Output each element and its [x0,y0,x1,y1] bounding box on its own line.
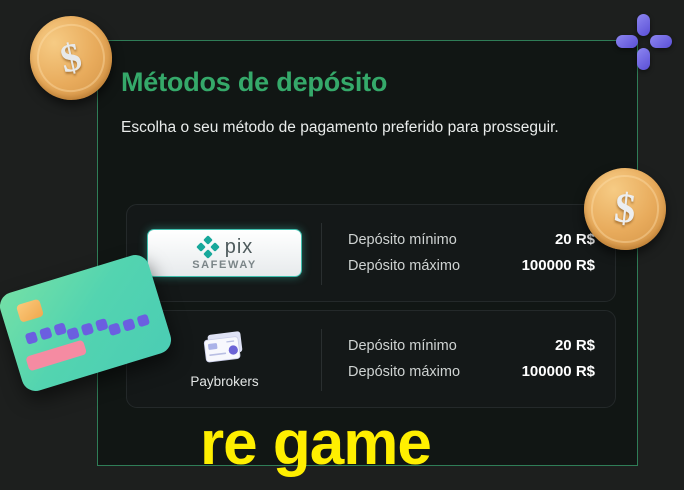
screenshot-root: Métodos de depósito Escolha o seu método… [0,0,684,490]
pix-wordmark: pix [225,237,254,257]
pix-diamond-icon [196,235,220,259]
pix-amounts: Depósito mínimo 20 R$ Depósito máximo 10… [322,227,615,279]
credit-cards-icon [201,330,249,366]
card-stripe [25,340,87,372]
paybrokers-max-line: Depósito máximo 100000 R$ [348,359,595,385]
paybrokers-logo-cell: Paybrokers [127,311,322,407]
card-chip-icon [16,299,44,323]
panel-subtitle: Escolha o seu método de pagamento prefer… [121,115,576,141]
pix-min-line: Depósito mínimo 20 R$ [348,227,595,253]
paybrokers-amounts: Depósito mínimo 20 R$ Depósito máximo 10… [322,333,615,385]
pix-logo-cell: pix SAFEWAY [127,205,322,301]
pix-max-label: Depósito máximo [348,254,460,279]
paybrokers-max-value: 100000 R$ [522,359,595,384]
pix-safeway-button[interactable]: pix SAFEWAY [147,229,302,277]
payment-method-row-pix[interactable]: pix SAFEWAY Depósito mínimo 20 R$ Depósi… [126,204,616,302]
card-digits-group-1 [25,322,67,345]
pix-min-value: 20 R$ [555,227,595,252]
pix-max-value: 100000 R$ [522,253,595,278]
paybrokers-min-value: 20 R$ [555,333,595,358]
payment-method-row-paybrokers[interactable]: Paybrokers Depósito mínimo 20 R$ Depósit… [126,310,616,408]
pix-max-line: Depósito máximo 100000 R$ [348,253,595,279]
paybrokers-max-label: Depósito máximo [348,360,460,385]
page-title: Métodos de depósito [121,67,387,98]
payment-methods-list: pix SAFEWAY Depósito mínimo 20 R$ Depósi… [126,204,616,416]
paybrokers-logo-wrap[interactable]: Paybrokers [190,330,258,389]
overlay-watermark-text: re game [200,413,431,475]
pix-safeway-label: SAFEWAY [192,260,257,271]
paybrokers-min-line: Depósito mínimo 20 R$ [348,333,595,359]
deposit-methods-panel: Métodos de depósito Escolha o seu método… [97,40,638,466]
pix-mark: pix [196,235,254,259]
paybrokers-label: Paybrokers [190,374,258,389]
pix-min-label: Depósito mínimo [348,228,457,253]
coin-dollar-symbol-left: $ [57,36,85,79]
paybrokers-min-label: Depósito mínimo [348,334,457,359]
